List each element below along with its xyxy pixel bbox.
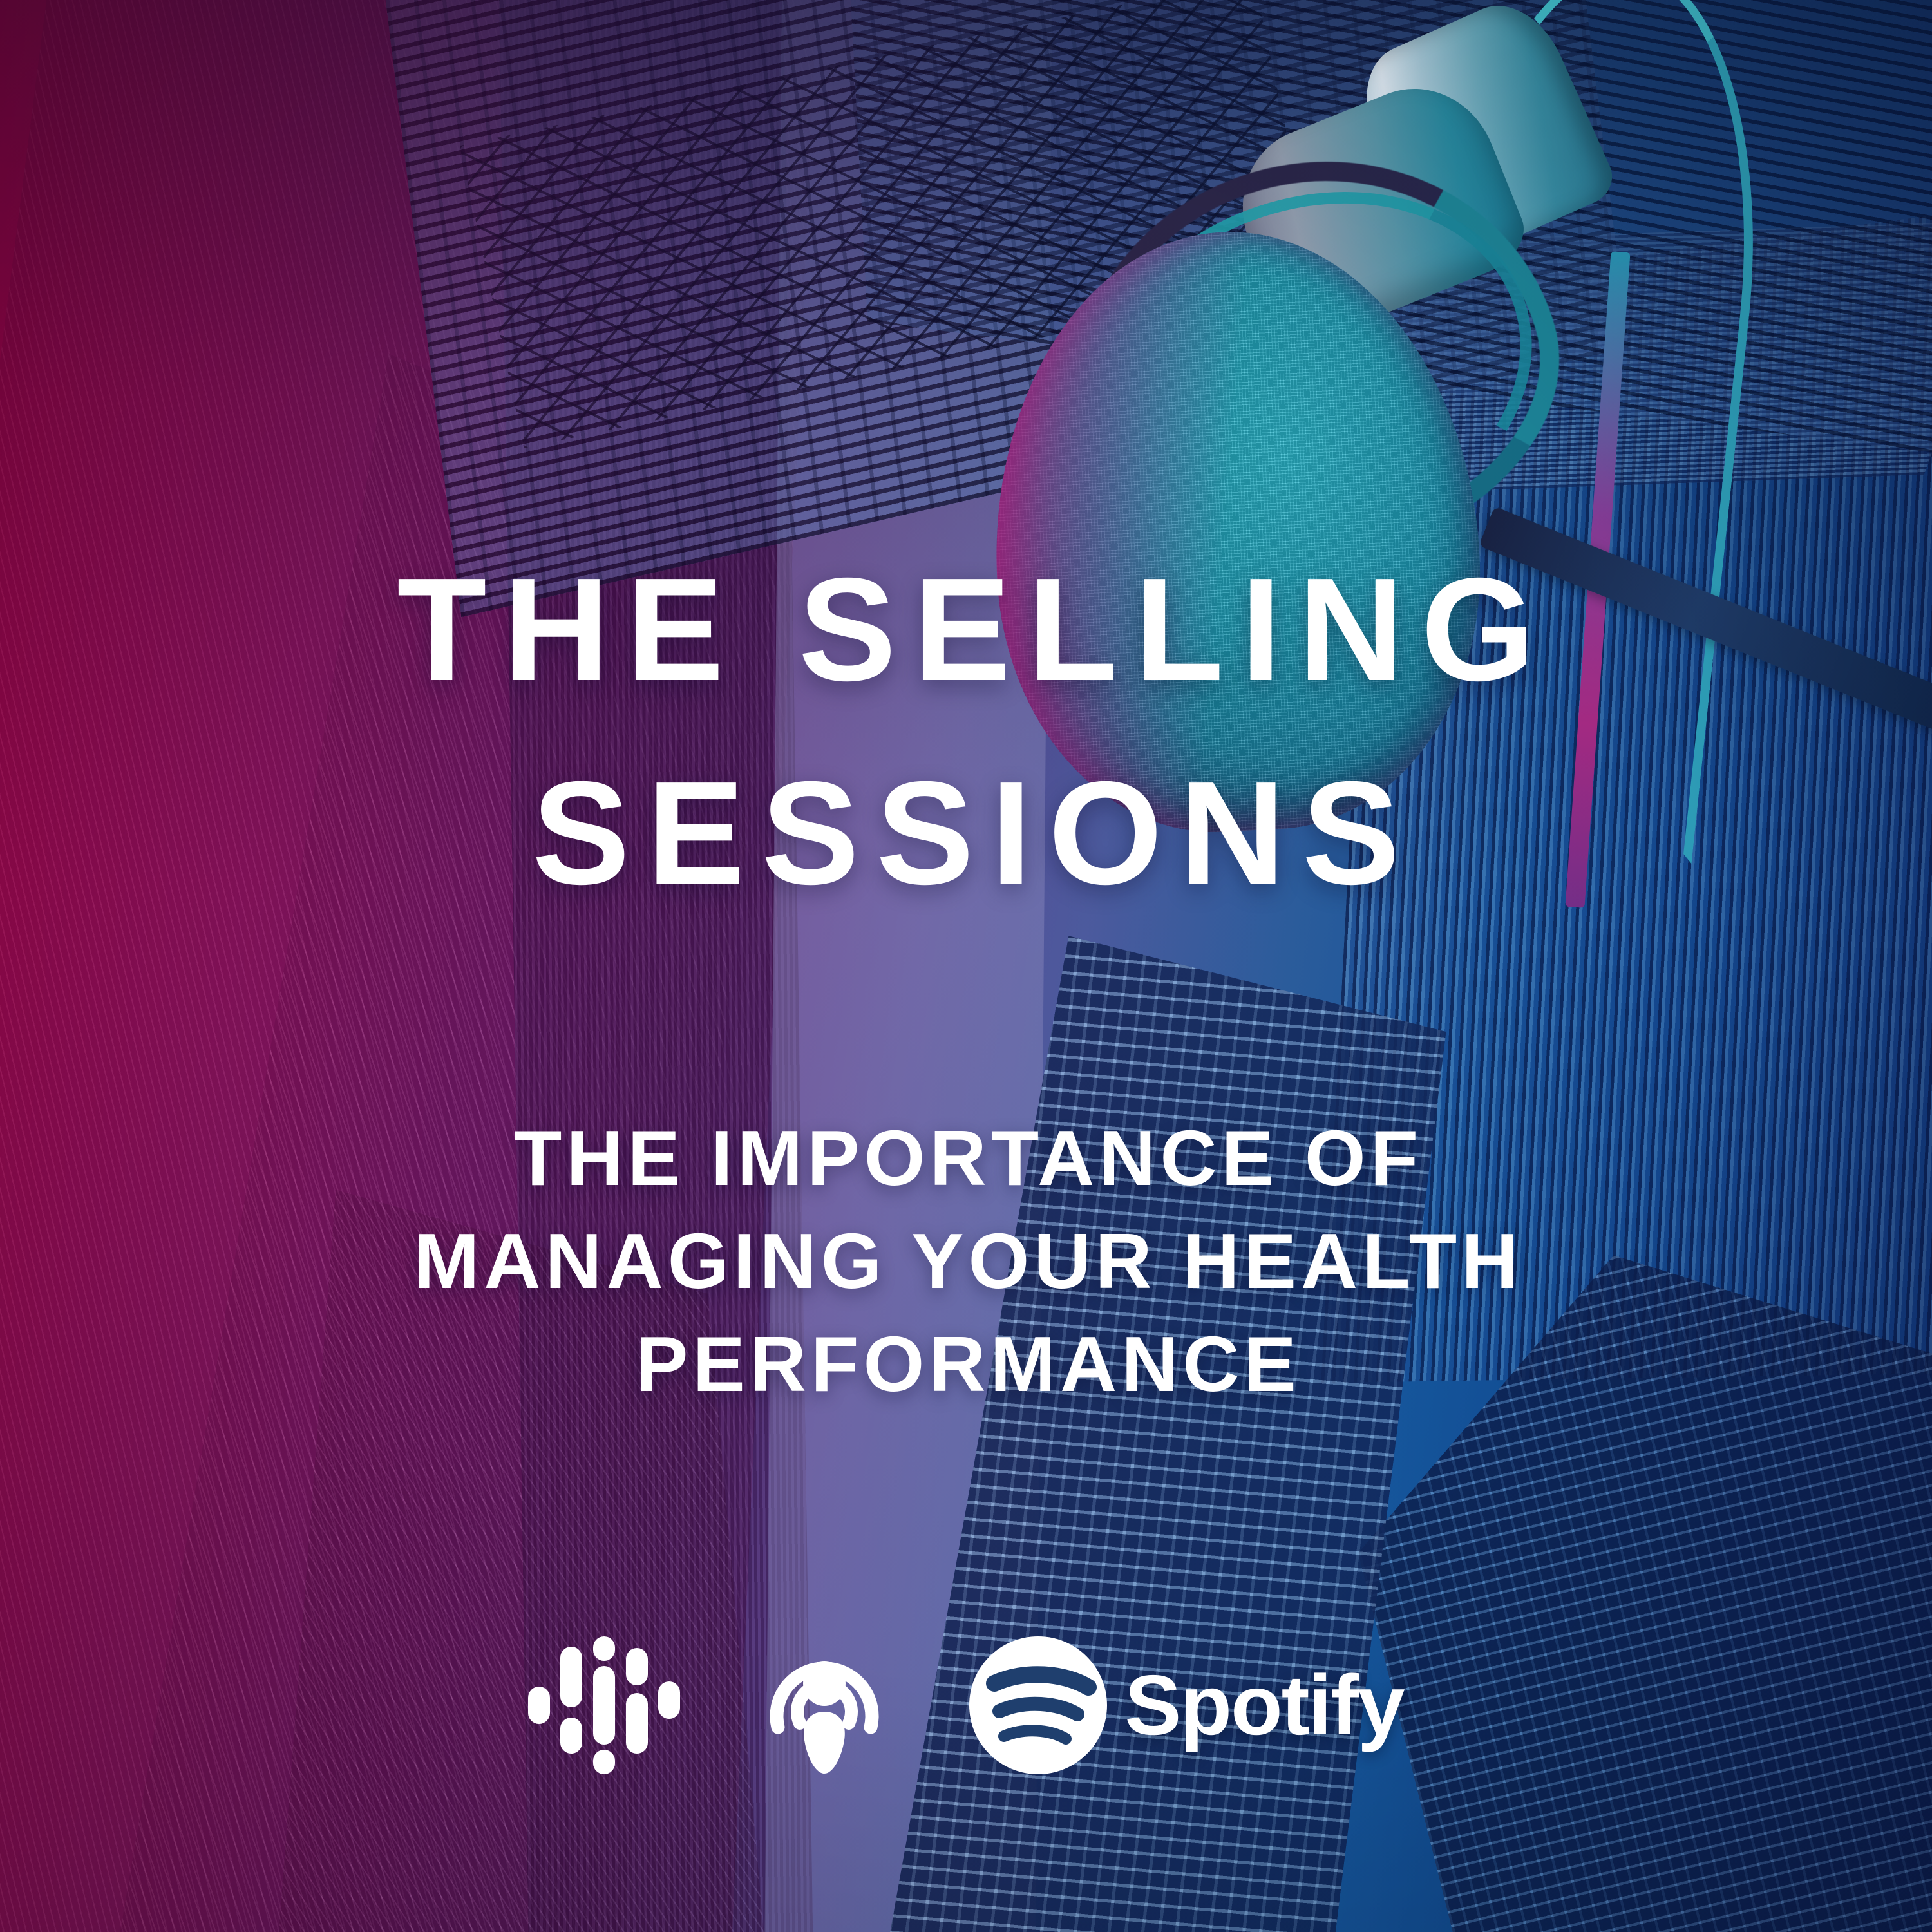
apple-podcasts-person-body: [804, 1712, 846, 1774]
platform-spotify[interactable]: Spotify: [969, 1636, 1403, 1775]
google-podcasts-icon: [528, 1636, 680, 1774]
platform-badges: Spotify: [0, 1629, 1932, 1781]
platform-google-podcasts[interactable]: [528, 1636, 680, 1774]
podcast-cover-art: THE SELLING SESSIONS THE IMPORTANCE OF M…: [0, 0, 1932, 1932]
episode-subtitle-line-2: MANAGING YOUR HEALTH: [0, 1209, 1932, 1313]
podcast-title-line-2: SESSIONS: [0, 759, 1932, 909]
apple-podcasts-person-head: [803, 1661, 846, 1706]
episode-subtitle-line-1: THE IMPORTANCE OF: [0, 1106, 1932, 1210]
podcast-title-line-1: THE SELLING: [0, 555, 1932, 705]
apple-podcasts-icon: [756, 1629, 893, 1781]
spotify-wordmark: Spotify: [1124, 1663, 1403, 1748]
episode-subtitle-line-3: PERFORMANCE: [0, 1312, 1932, 1416]
spotify-icon: [969, 1636, 1108, 1775]
platform-apple-podcasts[interactable]: [756, 1629, 893, 1781]
